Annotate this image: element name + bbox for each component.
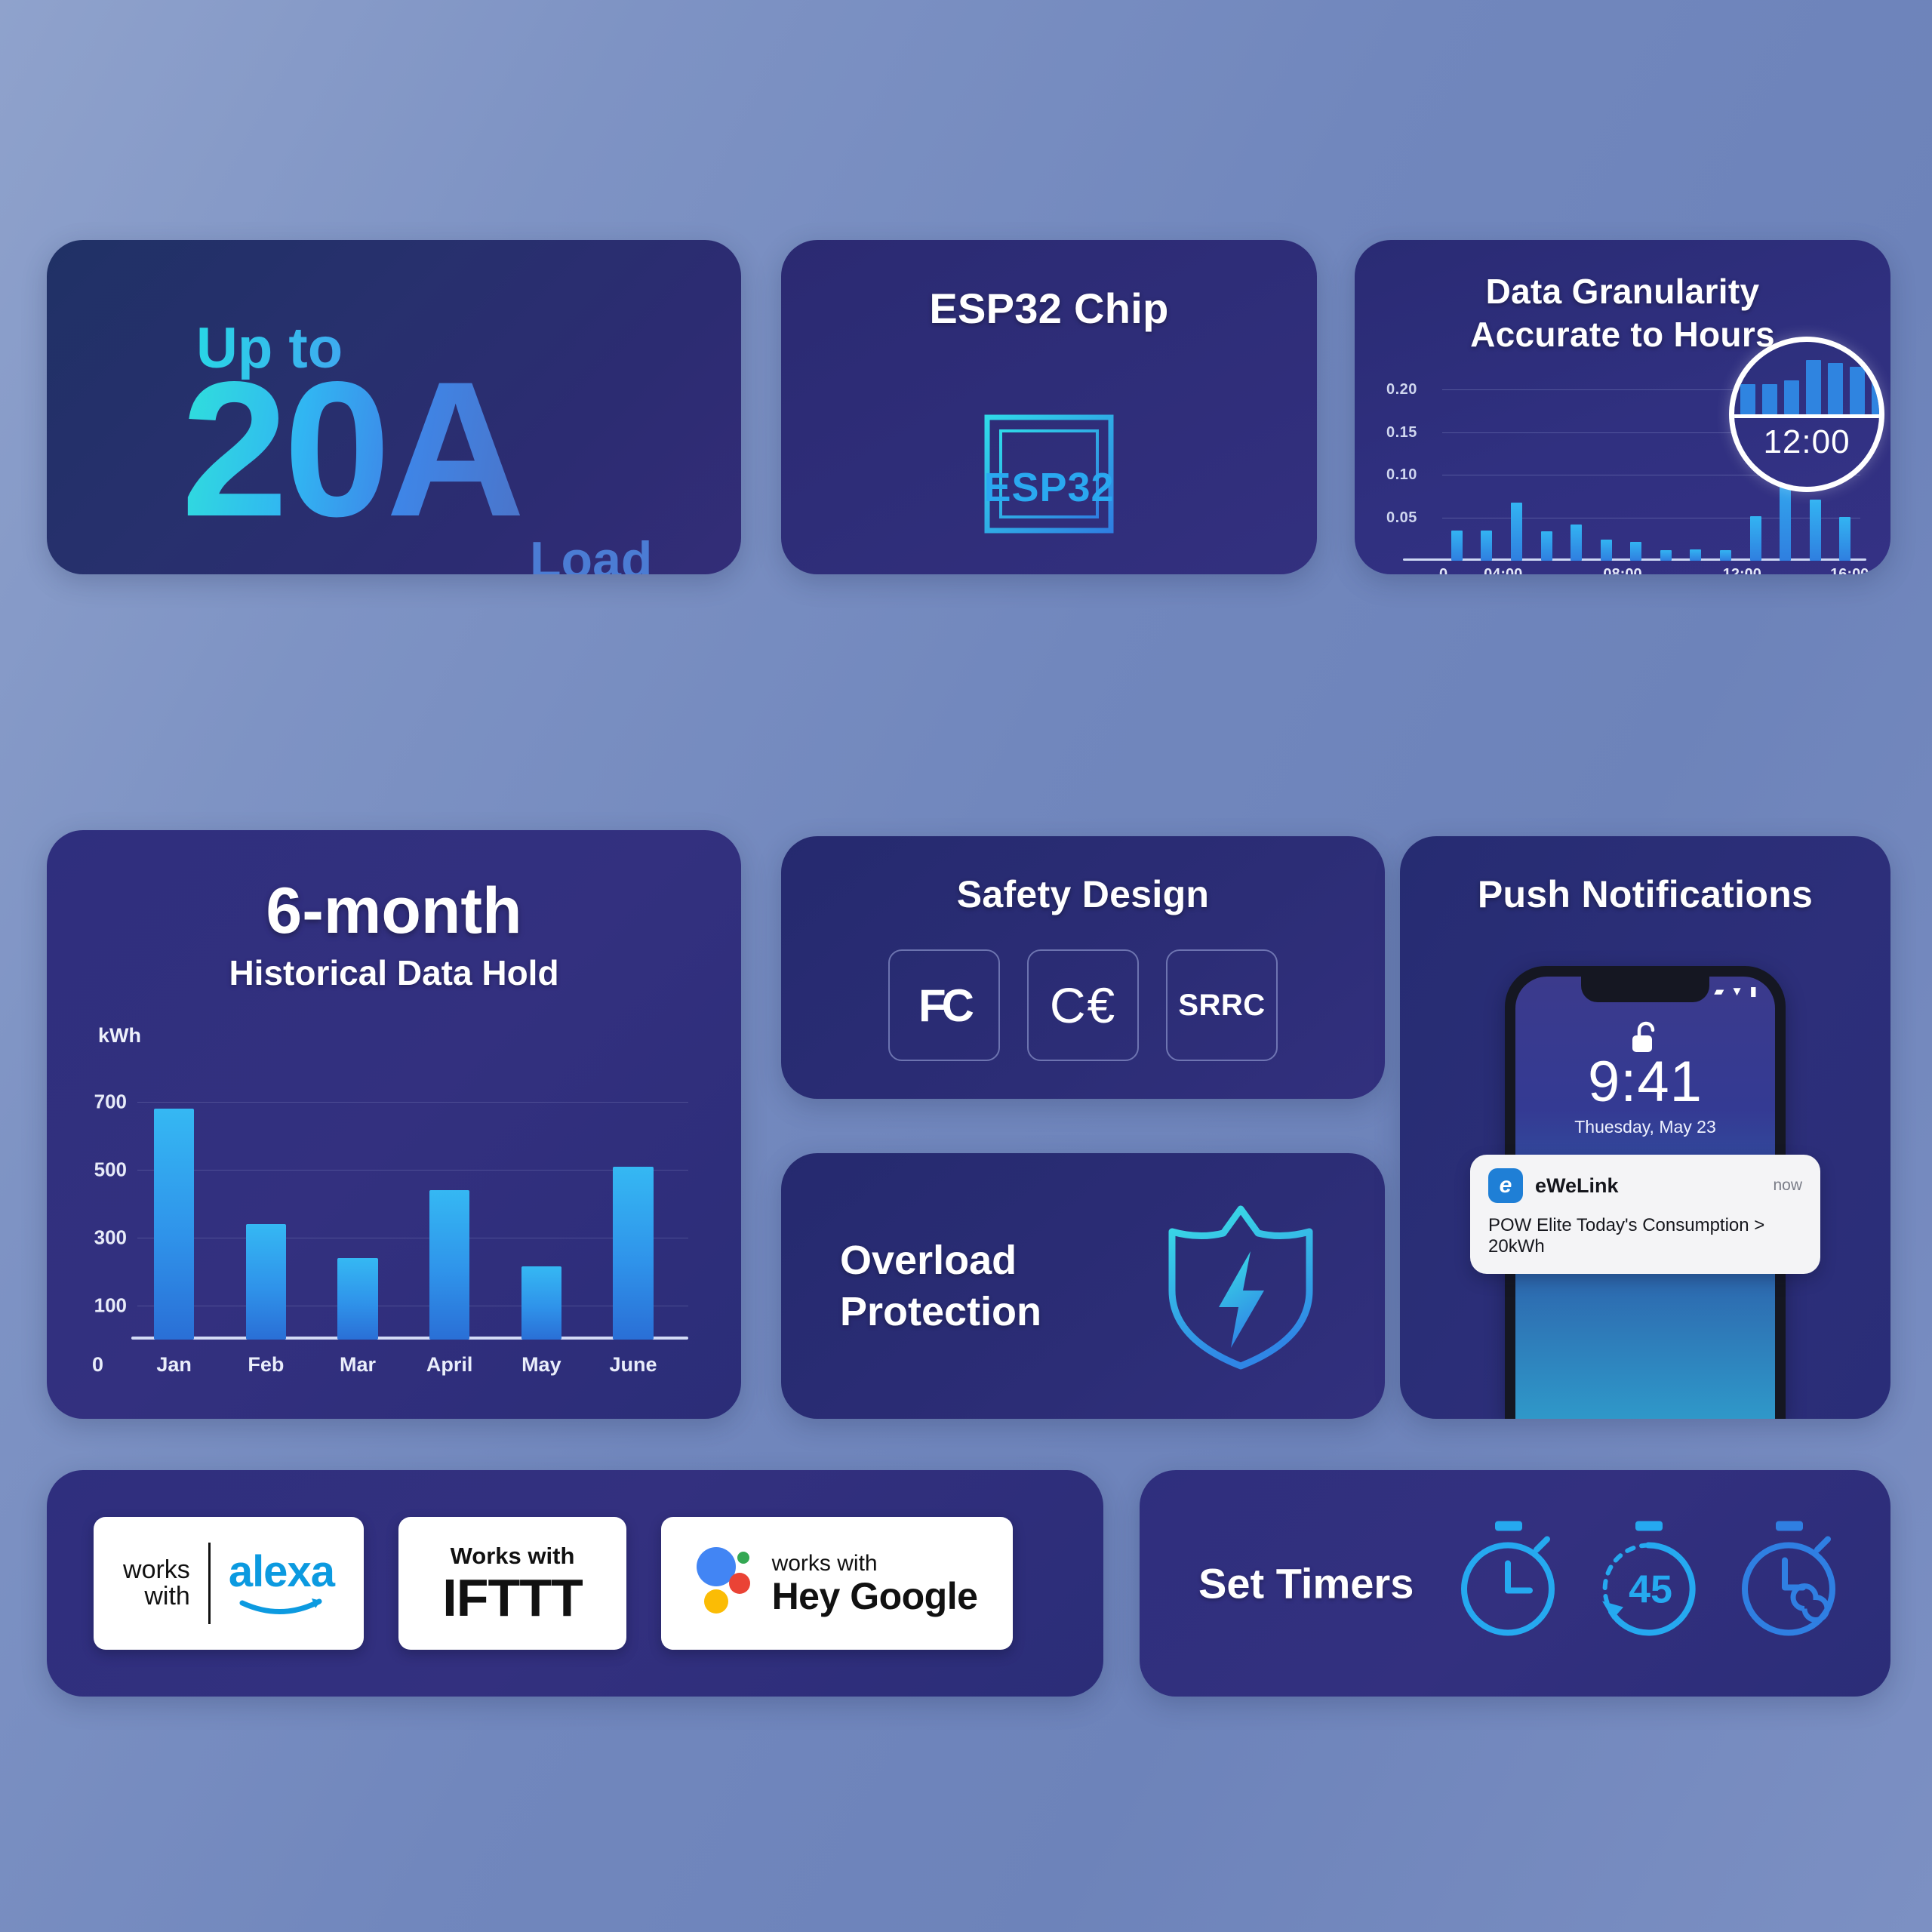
history-y-axis-label: kWh (98, 1024, 141, 1048)
magnified-bar (1806, 360, 1821, 414)
works-with-google-badge[interactable]: works with Hey Google (661, 1517, 1013, 1650)
history-title: 6-month (47, 874, 741, 949)
x-axis-tick: 16:00 (1830, 566, 1869, 574)
y-axis-tick: 500 (94, 1158, 127, 1182)
load-value: 20A (181, 353, 521, 546)
card-ecosystem-compatibility: works with alexa Works with IFTTT (47, 1470, 1103, 1697)
x-axis-tick: 04:00 (1484, 566, 1522, 574)
hourly-bar (1630, 542, 1641, 561)
ecosystem-badge-row: works with alexa Works with IFTTT (94, 1517, 1013, 1650)
hourly-bar (1511, 503, 1522, 561)
history-subtitle: Historical Data Hold (47, 952, 741, 993)
hourly-bar (1720, 550, 1731, 561)
infographic-canvas: Up to 20A Load ESP32 Chip (0, 0, 1932, 1932)
card-max-load: Up to 20A Load (47, 240, 741, 574)
y-axis-tick: 0.20 (1386, 381, 1417, 398)
month-bar (154, 1109, 195, 1340)
magnifier-icon: 12:00 (1729, 337, 1884, 492)
overload-line1: Overload (840, 1235, 1041, 1286)
fcc-logo: FC (888, 949, 1000, 1061)
card-set-timers: Set Timers 45 (1140, 1470, 1890, 1697)
y-axis-tick: 700 (94, 1091, 127, 1114)
y-axis-tick: 0.10 (1386, 466, 1417, 484)
google-badge-text: works with Hey Google (772, 1551, 978, 1617)
hourly-bar (1750, 516, 1761, 561)
alexa-works-with-text: works with (123, 1557, 190, 1611)
magnifier-time-label: 12:00 (1734, 423, 1879, 461)
shield-bolt-icon (1161, 1200, 1320, 1377)
stopwatch-icon (1451, 1518, 1564, 1649)
phone-mockup: ▰ ▼ ▮ 9:41 Thuesday, May 23 e eWeLink no… (1505, 966, 1786, 1419)
load-suffix: Load (530, 531, 652, 574)
x-axis-tick: 0 (1439, 566, 1447, 574)
card-push-notifications: Push Notifications ▰ ▼ ▮ 9:41 Thuesday, … (1400, 836, 1890, 1419)
magnifier-divider (1734, 414, 1879, 418)
lockscreen-time: 9:41 (1515, 1049, 1775, 1115)
notification-timestamp: now (1773, 1177, 1802, 1195)
month-bar (337, 1258, 378, 1340)
overload-line2: Protection (840, 1286, 1041, 1337)
microchip-icon: ESP32 (943, 395, 1155, 557)
notification-header: e eWeLink now (1488, 1168, 1802, 1203)
magnified-bar (1828, 363, 1843, 414)
magnified-bar (1740, 384, 1755, 414)
month-bar (246, 1224, 287, 1340)
gridline (137, 1102, 688, 1103)
card-data-granularity: Data Granularity Accurate to Hours 0.050… (1355, 240, 1890, 574)
y-axis-tick: 100 (94, 1294, 127, 1318)
certification-row: FC C€ SRRC (781, 949, 1385, 1061)
gridline (137, 1238, 688, 1238)
hourly-bar (1601, 540, 1612, 561)
countdown-timer-icon: 45 (1592, 1518, 1705, 1649)
countdown-value: 45 (1629, 1568, 1672, 1612)
hourly-bar (1660, 550, 1672, 561)
gridline (1442, 518, 1860, 518)
month-bar (521, 1266, 562, 1340)
hourly-bar (1571, 525, 1582, 561)
card-safety-design: Safety Design FC C€ SRRC (781, 836, 1385, 1099)
card-historical-data: 6-month Historical Data Hold kWh 0 10030… (47, 830, 741, 1419)
phone-notch (1581, 977, 1709, 1002)
google-assistant-icon (697, 1541, 755, 1626)
timer-icon-row: 45 (1451, 1518, 1845, 1649)
alexa-logo: alexa (229, 1546, 334, 1620)
six-month-chart: kWh 0 100300500700JanFebMarAprilMayJune (137, 1068, 688, 1340)
overload-text: Overload Protection (840, 1235, 1041, 1337)
hourly-bar (1481, 531, 1492, 561)
works-with-ifttt-badge[interactable]: Works with IFTTT (398, 1517, 626, 1650)
gridline (137, 1170, 688, 1171)
x-axis-tick: 08:00 (1603, 566, 1641, 574)
y-axis-tick: 0.05 (1386, 509, 1417, 527)
esp32-card-title: ESP32 Chip (781, 284, 1317, 333)
x-axis-tick: May (521, 1353, 561, 1377)
lockscreen-date: Thuesday, May 23 (1515, 1117, 1775, 1137)
amazon-smile-icon (239, 1597, 324, 1617)
month-bar (613, 1167, 654, 1340)
x-axis-tick: Jan (156, 1353, 192, 1377)
history-zero-label: 0 (92, 1353, 103, 1377)
ce-logo: C€ (1027, 949, 1139, 1061)
y-axis-tick: 0.15 (1386, 424, 1417, 441)
chip-label: ESP32 (943, 464, 1155, 511)
notification-app-name: eWeLink (1535, 1174, 1761, 1198)
x-axis-tick: Mar (340, 1353, 376, 1377)
x-axis-tick: Feb (248, 1353, 284, 1377)
granularity-title-line1: Data Granularity (1355, 270, 1890, 313)
x-axis-tick: June (609, 1353, 657, 1377)
history-x-axis (131, 1337, 688, 1340)
card-esp32-chip: ESP32 Chip (781, 240, 1317, 574)
magnified-bar (1872, 367, 1884, 414)
hourly-bar (1451, 531, 1463, 561)
loop-timer-icon (1732, 1518, 1845, 1649)
x-axis-tick: 12:00 (1723, 566, 1761, 574)
magnified-bar (1850, 367, 1865, 414)
srrc-logo: SRRC (1166, 949, 1278, 1061)
hourly-bar (1541, 531, 1552, 561)
y-axis-tick: 300 (94, 1226, 127, 1250)
badge-divider (208, 1543, 211, 1624)
safety-card-title: Safety Design (781, 872, 1385, 916)
magnified-bar (1784, 380, 1799, 414)
month-bar (429, 1190, 470, 1340)
works-with-alexa-badge[interactable]: works with alexa (94, 1517, 364, 1650)
hourly-bar (1690, 549, 1701, 561)
gridline (137, 1306, 688, 1306)
hourly-bar (1839, 517, 1850, 561)
hourly-bar (1810, 500, 1821, 561)
notification-banner[interactable]: e eWeLink now POW Elite Today's Consumpt… (1470, 1155, 1820, 1274)
timers-label: Set Timers (1198, 1559, 1414, 1608)
push-card-title: Push Notifications (1400, 872, 1890, 916)
magnified-bar (1762, 384, 1777, 414)
notification-body: POW Elite Today's Consumption > 20kWh (1488, 1215, 1802, 1257)
ewelink-app-icon: e (1488, 1168, 1523, 1203)
status-bar-icons: ▰ ▼ ▮ (1714, 984, 1758, 999)
x-axis-tick: April (426, 1353, 473, 1377)
card-overload-protection: Overload Protection (781, 1153, 1385, 1419)
